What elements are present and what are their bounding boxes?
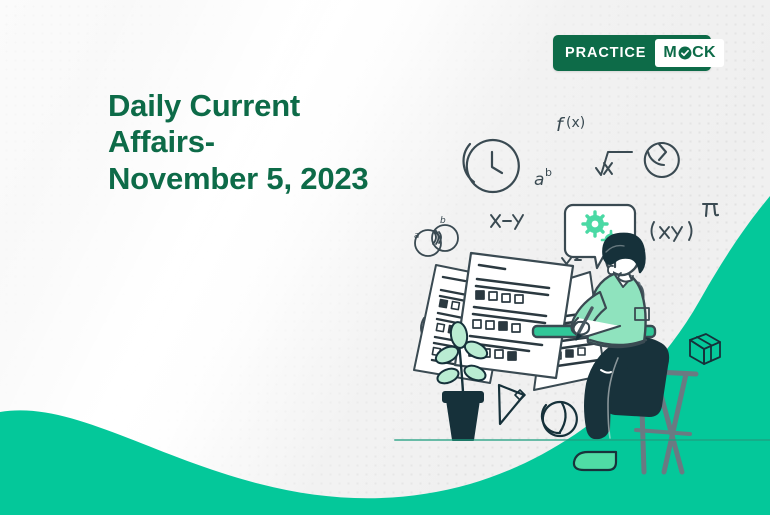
logo-mock-prefix: M bbox=[663, 45, 677, 61]
logo-practice-text: PRACTICE bbox=[557, 46, 655, 61]
page-title: Daily Current Affairs- November 5, 2023 bbox=[108, 88, 368, 197]
logo-mock-suffix: CK bbox=[692, 45, 716, 61]
practicemock-logo[interactable]: PRACTICE M CK bbox=[553, 35, 711, 71]
daily-current-affairs-banner: PRACTICE M CK Daily Current Affairs- Nov… bbox=[0, 0, 770, 515]
logo-mock-text: M CK bbox=[655, 39, 724, 67]
check-circle-icon bbox=[678, 46, 692, 60]
green-wave-shape bbox=[0, 0, 770, 515]
